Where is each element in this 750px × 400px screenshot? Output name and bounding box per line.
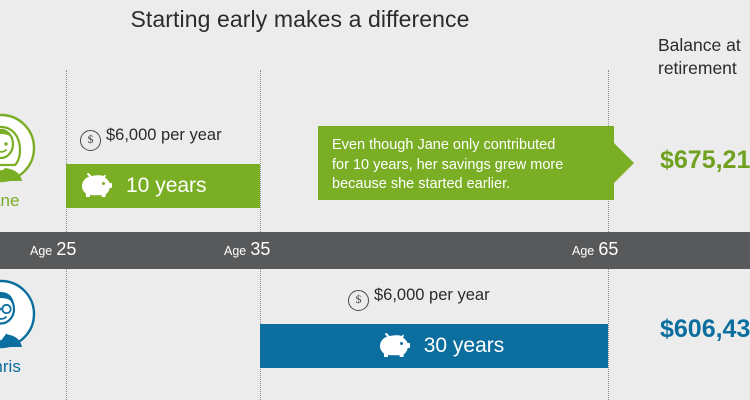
age-marker-35-value: 35 <box>250 239 270 259</box>
callout-pointer-icon <box>614 143 634 183</box>
dollar-coin-icon: $ <box>80 130 101 151</box>
jane-contribution-text: $6,000 per year <box>106 126 222 144</box>
age-marker-65-word: Age <box>572 244 594 258</box>
jane-contribution: $$6,000 per year <box>80 126 222 151</box>
avatar-jane-label: Jane <box>0 191 40 211</box>
piggy-bank-icon <box>378 332 414 360</box>
avatar-chris-icon <box>0 278 40 350</box>
age-marker-65-value: 65 <box>598 239 618 259</box>
age-marker-65: Age 65 <box>572 239 618 260</box>
infographic-canvas: Starting early makes a difference Balanc… <box>0 0 750 400</box>
piggy-bank-icon <box>80 172 116 200</box>
chris-balance: $606,43 <box>660 315 750 344</box>
callout-line-2: for 10 years, her savings grew more <box>332 156 600 176</box>
balance-header-line2: retirement <box>658 57 750 80</box>
callout-line-1: Even though Jane only contributed <box>332 136 600 156</box>
avatar-chris-label: Chris <box>0 357 40 377</box>
jane-balance: $675,21 <box>660 146 750 175</box>
age-marker-35: Age 35 <box>224 239 270 260</box>
avatar-jane: Jane <box>0 112 40 211</box>
chris-years-label: 30 years <box>424 334 505 358</box>
chris-contribution: $$6,000 per year <box>348 286 490 311</box>
dollar-coin-icon: $ <box>348 290 369 311</box>
avatar-chris: Chris <box>0 278 40 377</box>
piggy-bank-glyph <box>378 332 414 360</box>
age-marker-35-word: Age <box>224 244 246 258</box>
age-axis-band <box>0 232 750 269</box>
piggy-bank-glyph <box>80 172 116 200</box>
age-marker-25-word: Age <box>30 244 52 258</box>
age-marker-25: Age 25 <box>30 239 76 260</box>
balance-column-header: Balance at retirement <box>658 34 750 80</box>
page-title: Starting early makes a difference <box>0 6 600 33</box>
jane-years-label: 10 years <box>126 174 207 198</box>
chris-years-bar: 30 years <box>260 324 608 368</box>
chris-contribution-text: $6,000 per year <box>374 286 490 304</box>
balance-header-line1: Balance at <box>658 34 750 57</box>
callout-box: Even though Jane only contributed for 10… <box>318 126 614 200</box>
callout-line-3: because she started earlier. <box>332 175 600 195</box>
jane-years-bar: 10 years <box>66 164 260 208</box>
avatar-jane-icon <box>0 112 40 184</box>
age-marker-25-value: 25 <box>56 239 76 259</box>
